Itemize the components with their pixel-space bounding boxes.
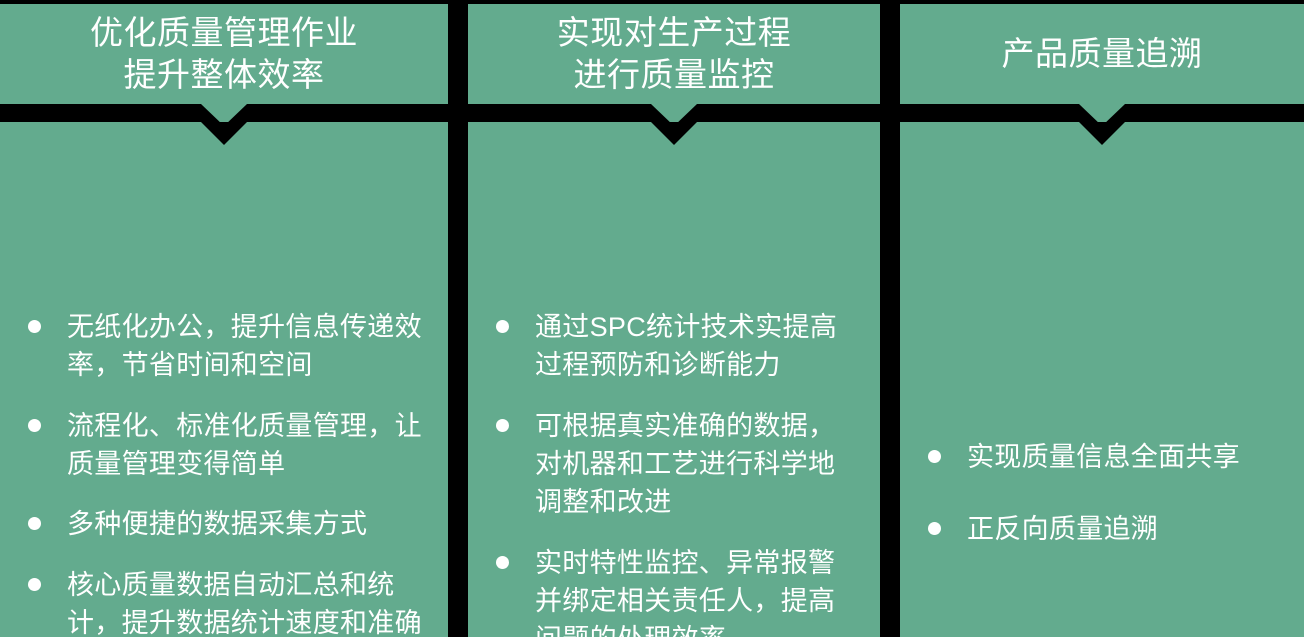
list-item: 多种便捷的数据采集方式 xyxy=(14,505,426,543)
infographic-canvas: 优化质量管理作业 提升整体效率 无纸化办公，提升信息传递效率，节省时间和空间 流… xyxy=(0,0,1304,637)
column-1-bullet-list: 无纸化办公，提升信息传递效率，节省时间和空间 流程化、标准化质量管理，让质量管理… xyxy=(0,308,448,637)
list-item-label: 流程化、标准化质量管理，让质量管理变得简单 xyxy=(67,407,426,484)
column-2-bullet-list: 通过SPC统计技术实提高过程预防和诊断能力 可根据真实准确的数据，对机器和工艺进… xyxy=(468,308,880,637)
list-item-label: 实现质量信息全面共享 xyxy=(967,438,1240,476)
column-2-header-panel: 实现对生产过程 进行质量监控 xyxy=(468,4,880,104)
list-item-label: 正反向质量追溯 xyxy=(967,510,1158,548)
column-3-body-panel: 实现质量信息全面共享 正反向质量追溯 xyxy=(900,122,1304,637)
bullet-dot-icon xyxy=(28,517,41,530)
column-1-notch xyxy=(201,122,247,145)
column-2-header-title: 实现对生产过程 进行质量监控 xyxy=(557,12,792,96)
list-item: 实现质量信息全面共享 xyxy=(914,438,1282,476)
bullet-dot-icon xyxy=(496,419,509,432)
column-product-quality-traceability: 产品质量追溯 实现质量信息全面共享 正反向质量追溯 xyxy=(900,0,1304,637)
column-3-header-panel: 产品质量追溯 xyxy=(900,4,1304,104)
list-item: 通过SPC统计技术实提高过程预防和诊断能力 xyxy=(482,308,858,385)
bullet-dot-icon xyxy=(28,320,41,333)
list-item: 核心质量数据自动汇总和统计，提升数据统计速度和准确性 xyxy=(14,566,426,637)
column-optimize-quality-operations: 优化质量管理作业 提升整体效率 无纸化办公，提升信息传递效率，节省时间和空间 流… xyxy=(0,0,448,637)
bullet-dot-icon xyxy=(928,522,941,535)
list-item-label: 无纸化办公，提升信息传递效率，节省时间和空间 xyxy=(67,308,426,385)
column-production-process-monitoring: 实现对生产过程 进行质量监控 通过SPC统计技术实提高过程预防和诊断能力 可根据… xyxy=(468,0,880,637)
column-3-bullet-list: 实现质量信息全面共享 正反向质量追溯 xyxy=(900,438,1304,583)
list-item-label: 核心质量数据自动汇总和统计，提升数据统计速度和准确性 xyxy=(67,566,426,637)
list-item: 流程化、标准化质量管理，让质量管理变得简单 xyxy=(14,407,426,484)
list-item: 无纸化办公，提升信息传递效率，节省时间和空间 xyxy=(14,308,426,385)
list-item-label: 可根据真实准确的数据，对机器和工艺进行科学地调整和改进 xyxy=(535,407,858,522)
column-1-header-title: 优化质量管理作业 提升整体效率 xyxy=(90,12,358,96)
column-2-body-panel: 通过SPC统计技术实提高过程预防和诊断能力 可根据真实准确的数据，对机器和工艺进… xyxy=(468,122,880,637)
bullet-dot-icon xyxy=(928,450,941,463)
bullet-dot-icon xyxy=(496,320,509,333)
list-item-label: 通过SPC统计技术实提高过程预防和诊断能力 xyxy=(535,308,858,385)
column-1-header-panel: 优化质量管理作业 提升整体效率 xyxy=(0,4,448,104)
bullet-dot-icon xyxy=(28,419,41,432)
column-3-header-title: 产品质量追溯 xyxy=(1002,33,1203,75)
list-item-label: 实时特性监控、异常报警并绑定相关责任人，提高问题的处理效率。 xyxy=(535,544,858,637)
bullet-dot-icon xyxy=(496,556,509,569)
column-1-body-panel: 无纸化办公，提升信息传递效率，节省时间和空间 流程化、标准化质量管理，让质量管理… xyxy=(0,122,448,637)
bullet-dot-icon xyxy=(28,578,41,591)
list-item: 正反向质量追溯 xyxy=(914,510,1282,548)
list-item: 可根据真实准确的数据，对机器和工艺进行科学地调整和改进 xyxy=(482,407,858,522)
list-item-label: 多种便捷的数据采集方式 xyxy=(67,505,367,543)
column-3-notch xyxy=(1079,122,1125,145)
list-item: 实时特性监控、异常报警并绑定相关责任人，提高问题的处理效率。 xyxy=(482,544,858,637)
column-2-notch xyxy=(651,122,697,145)
